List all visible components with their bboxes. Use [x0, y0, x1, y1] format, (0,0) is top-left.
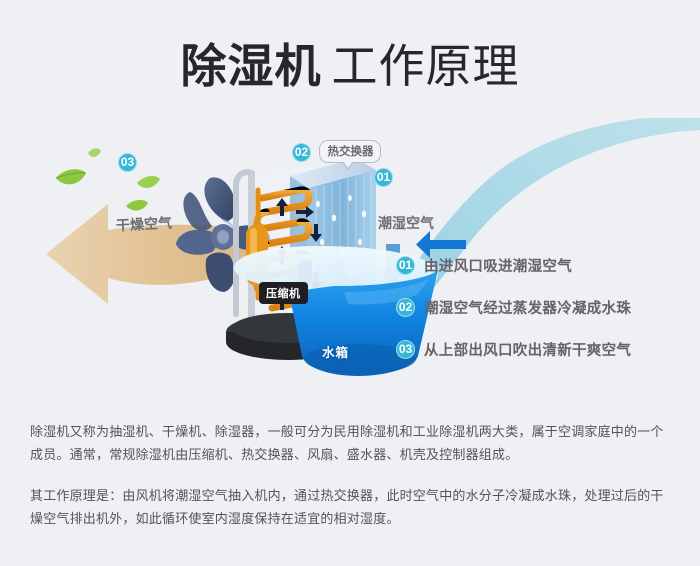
legend-text-02: 潮湿空气经过蒸发器冷凝成水珠 — [424, 297, 631, 318]
legend-item: 01 由进风口吸进潮湿空气 — [396, 255, 696, 276]
dry-air-label: 03 干燥空气 — [118, 153, 172, 234]
page-title-strong: 除湿机 — [181, 40, 322, 92]
body-copy: 除湿机又称为抽湿机、干燥机、除湿器，一般可分为民用除湿机和工业除湿机两大类，属于… — [30, 420, 675, 530]
compressor-label: 压缩机 — [259, 282, 308, 304]
legend-item: 02 潮湿空气经过蒸发器冷凝成水珠 — [396, 297, 696, 318]
legend-item: 03 从上部出风口吹出清新干爽空气 — [396, 339, 696, 360]
legend-text-01: 由进风口吸进潮湿空气 — [424, 255, 572, 276]
water-tank-label: 水箱 — [322, 342, 349, 361]
infographic-root: 除湿机工作原理 — [0, 0, 700, 566]
dry-air-badge: 03 — [118, 153, 137, 172]
heat-exchanger-label: 02 热交换器 — [292, 140, 381, 163]
paragraph-2: 其工作原理是：由风机将潮湿空气抽入机内，通过热交换器，此时空气中的水分子冷凝成水… — [30, 484, 675, 530]
legend-badge-02: 02 — [396, 298, 415, 317]
humid-air-label: 01 潮湿空气 — [374, 168, 434, 233]
legend-text-03: 从上部出风口吹出清新干爽空气 — [424, 339, 631, 360]
steps-legend: 01 由进风口吸进潮湿空气 02 潮湿空气经过蒸发器冷凝成水珠 03 从上部出风… — [396, 255, 696, 381]
page-title-light: 工作原理 — [332, 40, 520, 92]
dry-air-text: 干燥空气 — [116, 213, 173, 236]
humid-air-badge: 01 — [374, 168, 393, 187]
heat-exchanger-badge: 02 — [292, 143, 311, 162]
legend-badge-03: 03 — [396, 340, 415, 359]
humid-air-text: 潮湿空气 — [378, 213, 434, 233]
heat-exchanger-callout: 热交换器 — [319, 140, 381, 163]
drain-spout — [298, 260, 312, 284]
page-title: 除湿机工作原理 — [0, 30, 700, 96]
legend-badge-01: 01 — [396, 256, 415, 275]
paragraph-1: 除湿机又称为抽湿机、干燥机、除湿器，一般可分为民用除湿机和工业除湿机两大类，属于… — [30, 420, 675, 466]
